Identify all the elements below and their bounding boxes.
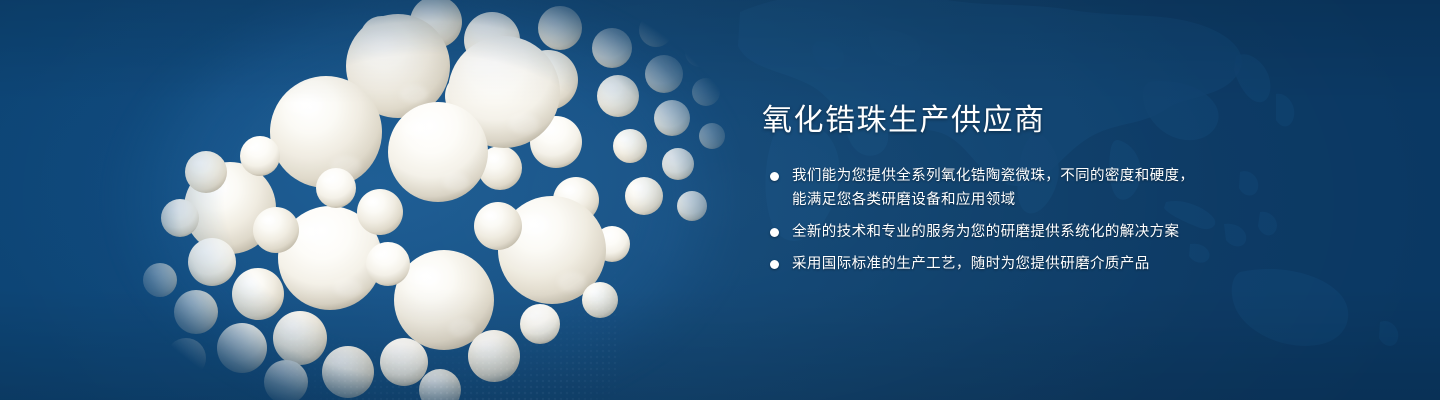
bullet-dot-icon <box>770 260 779 269</box>
list-item: 采用国际标准的生产工艺，随时为您提供研磨介质产品 <box>762 252 1362 276</box>
list-item-line: 全新的技术和专业的服务为您的研磨提供系统化的解决方案 <box>792 220 1362 244</box>
feature-list: 我们能为您提供全系列氧化锆陶瓷微珠，不同的密度和硬度， 能满足您各类研磨设备和应… <box>762 164 1362 276</box>
list-item-line: 能满足您各类研磨设备和应用领域 <box>792 188 1362 212</box>
list-item: 我们能为您提供全系列氧化锆陶瓷微珠，不同的密度和硬度， 能满足您各类研磨设备和应… <box>762 164 1362 212</box>
bullet-dot-icon <box>770 172 779 181</box>
banner-copy: 氧化锆珠生产供应商 我们能为您提供全系列氧化锆陶瓷微珠，不同的密度和硬度， 能满… <box>762 104 1362 276</box>
bullet-dot-icon <box>770 228 779 237</box>
list-item-line: 采用国际标准的生产工艺，随时为您提供研磨介质产品 <box>792 252 1362 276</box>
list-item: 全新的技术和专业的服务为您的研磨提供系统化的解决方案 <box>762 220 1362 244</box>
list-item-line: 我们能为您提供全系列氧化锆陶瓷微珠，不同的密度和硬度， <box>792 164 1362 188</box>
hero-banner: 氧化锆珠生产供应商 我们能为您提供全系列氧化锆陶瓷微珠，不同的密度和硬度， 能满… <box>0 0 1440 400</box>
page-title: 氧化锆珠生产供应商 <box>762 104 1362 138</box>
